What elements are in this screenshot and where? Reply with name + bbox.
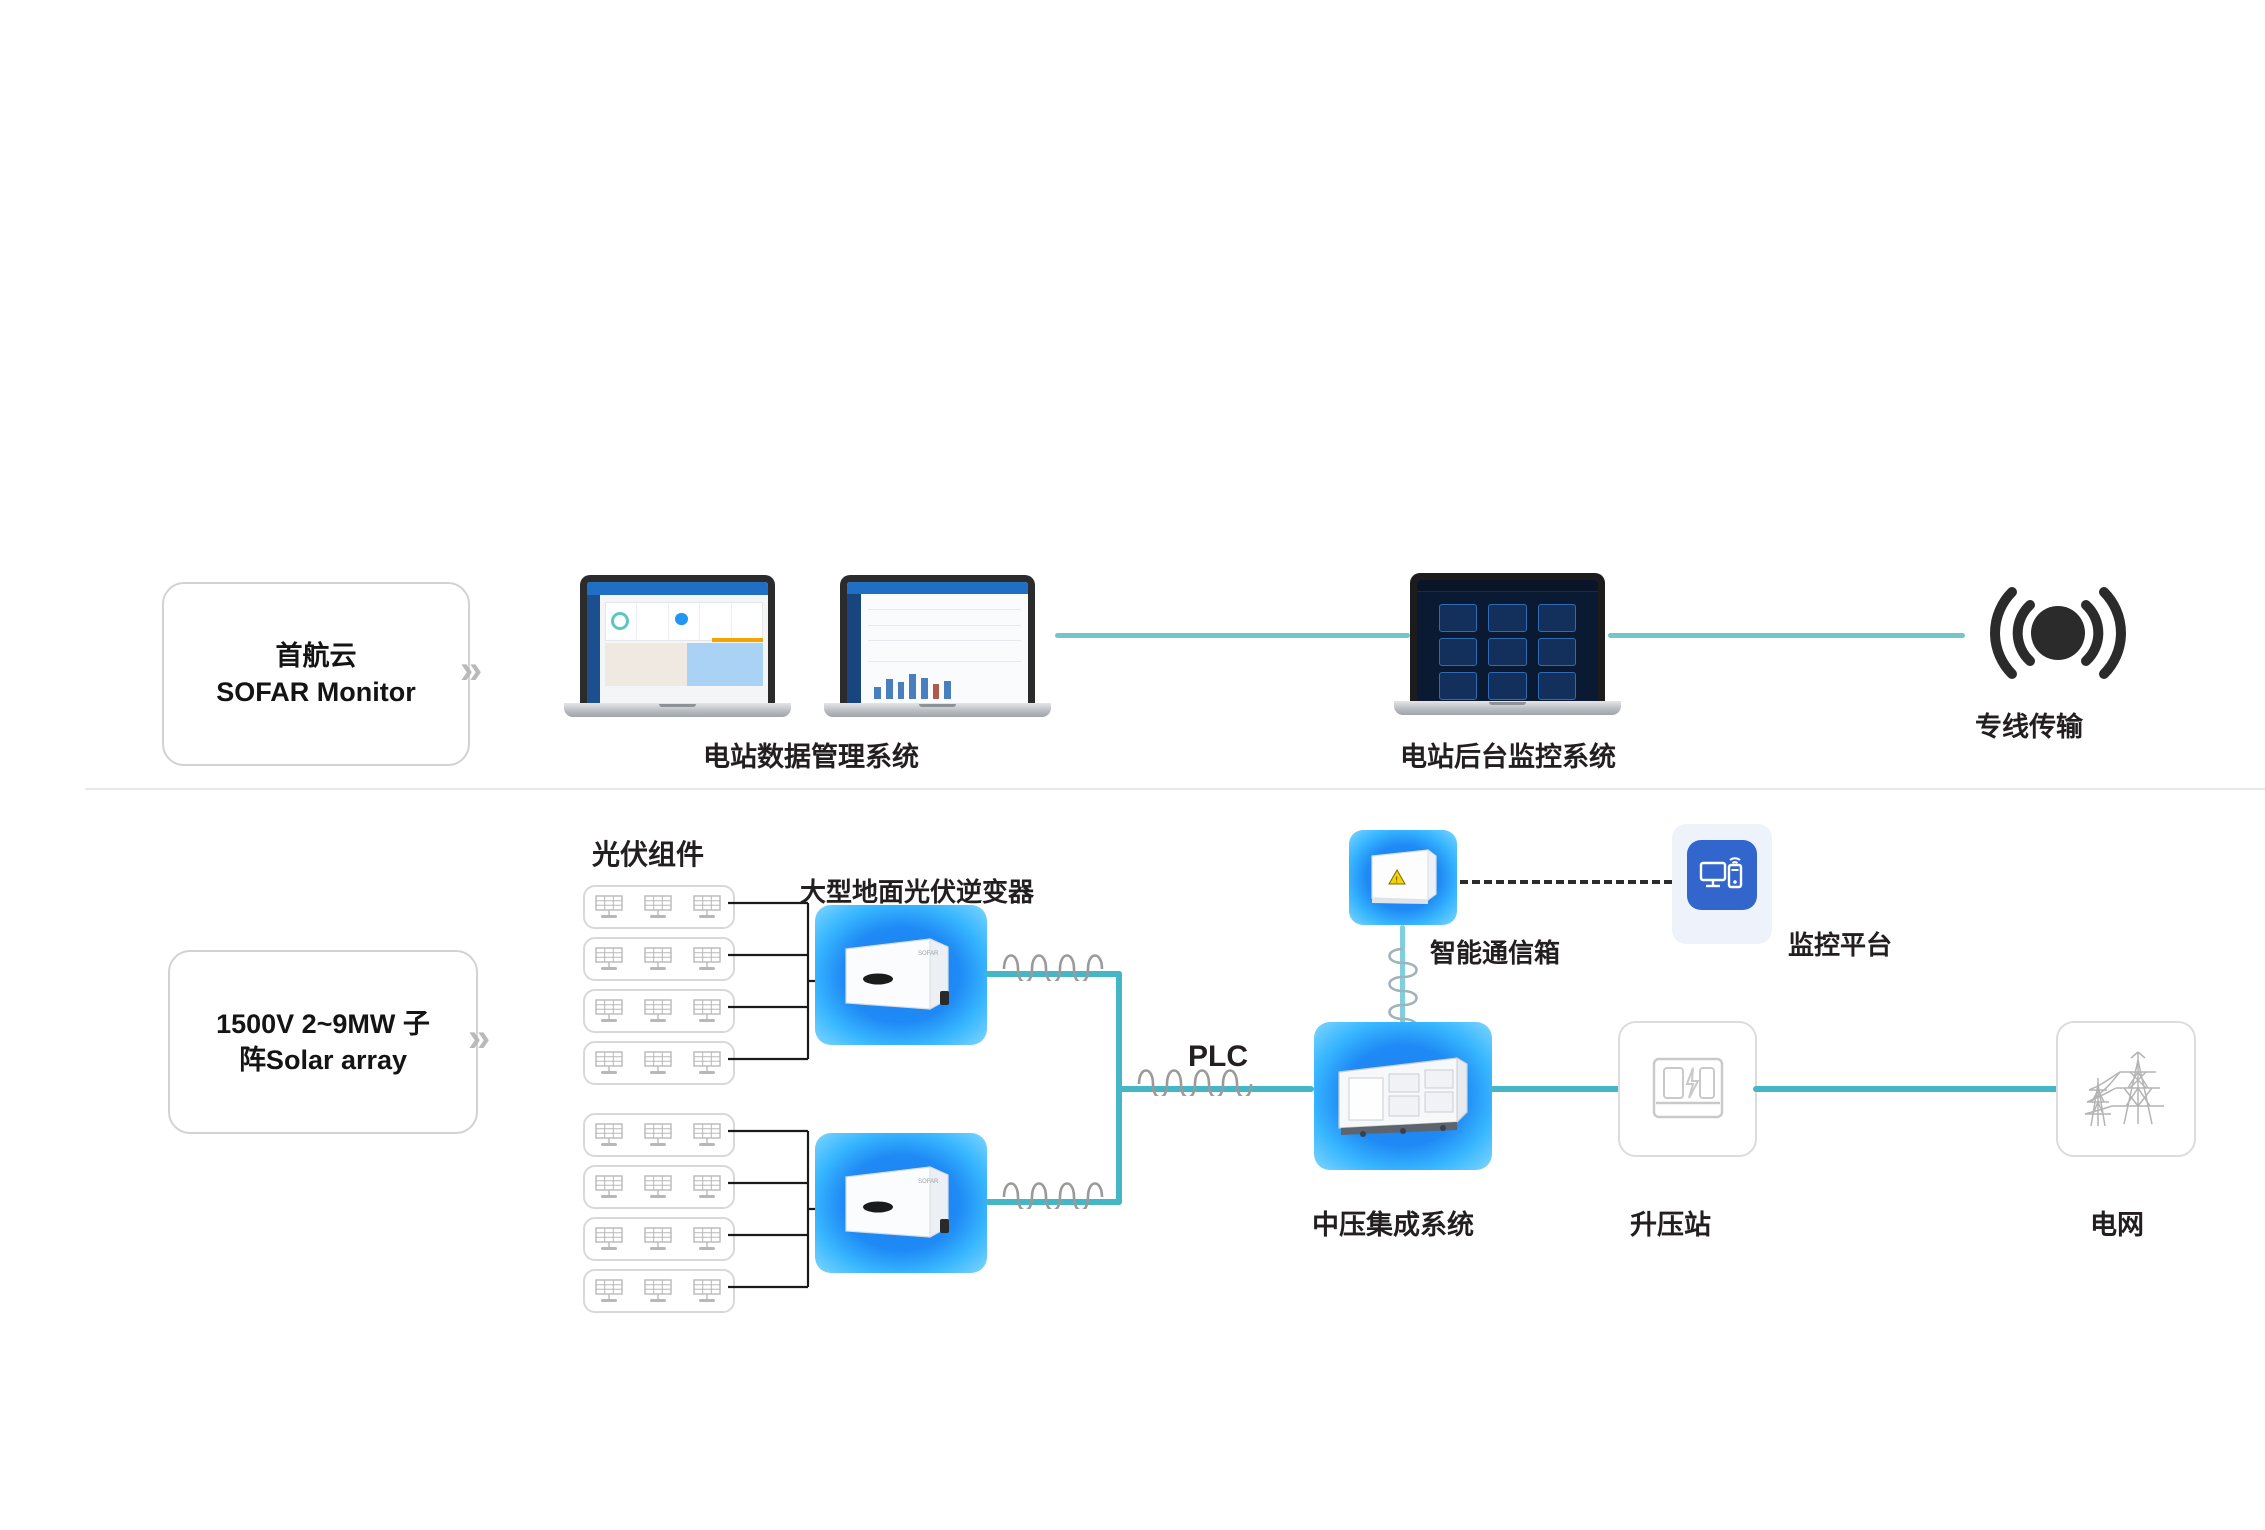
menu-tile[interactable] [1538,604,1577,632]
solar-panel-icon [692,894,724,920]
kpi-card [669,603,700,640]
plant-backend-monitoring-system-label: 电站后台监控系统 [1400,735,1616,774]
kpi-card [606,603,637,640]
solar-panel-icon [643,946,675,972]
monitoring-platform-icon-tile [1687,840,1757,910]
coil-inverter-b-icon [1000,1175,1110,1209]
solar-panel-icon [643,1050,675,1076]
laptop2-screen [840,575,1035,703]
substation-cabinet-icon [1646,1053,1730,1125]
laptop2-base [824,703,1051,717]
dashboard2-body [861,594,1028,703]
monitor-pc-wifi-icon [1699,855,1745,895]
power-grid-tile [2056,1021,2196,1157]
solar-panel-icon [692,998,724,1024]
power-grid-label: 电网 [2090,1203,2144,1242]
solar-panel-icon [594,1226,626,1252]
wire-booster-to-grid [1753,1086,2066,1092]
sofar-monitor-chevron-icon: » [460,650,482,690]
solar-array-line1: 1500V 2~9MW 子 [216,1006,430,1042]
pv-string-row [583,937,735,981]
sofar-monitor-line2: SOFAR Monitor [216,674,415,710]
menu-tile[interactable] [1439,638,1478,666]
wire-backend-to-transmission [1608,633,1965,638]
dedicated-line-transmission-icon-wrap [1988,578,2128,688]
sofar-monitor-group-box: 首航云 SOFAR Monitor [162,582,470,766]
dedicated-line-transmission-label: 专线传输 [1975,705,2083,744]
pv-string-row [583,885,735,929]
kpi-card [637,603,668,640]
wire-datamgmt-to-backend [1055,633,1410,638]
plant-backend-monitoring-laptop [1410,573,1621,715]
wire-mv-to-booster [1490,1086,1620,1092]
menu-tile[interactable] [1488,604,1527,632]
booster-station-label: 升压站 [1630,1203,1711,1242]
sofar-monitor-line1: 首航云 [216,638,415,674]
monitoring-platform-backdrop [1672,824,1772,944]
kpi-card [700,603,731,640]
solar-panel-icon [594,998,626,1024]
dashboard2-titlebar [847,582,1028,594]
gauge-dot-icon [675,613,688,626]
solar-array-chevron-icon: » [468,1018,490,1058]
solar-panel-icon [594,1278,626,1304]
solar-panel-icon [692,1174,724,1200]
pv-string-row [583,1041,735,1085]
wire-commbox-to-platform-dashed [1460,880,1672,884]
solar-panel-icon [643,1278,675,1304]
pv-modules-label: 光伏组件 [592,833,704,873]
pv-string-row [583,989,735,1033]
plant-data-management-system-label: 电站数据管理系统 [703,735,919,774]
svg-text:SOFAR: SOFAR [918,1179,939,1185]
solar-panel-icon [643,1174,675,1200]
booster-station-tile [1618,1021,1757,1157]
sofar-monitor-label: 首航云 SOFAR Monitor [216,638,415,711]
solar-panel-icon [594,1174,626,1200]
solar-panel-icon [594,894,626,920]
solar-panel-icon [692,1050,724,1076]
mv-container-icon [1333,1050,1473,1142]
inverter-device-a: SOFAR [815,905,987,1045]
dashboard1-map [605,643,763,686]
chart-bars [874,669,951,699]
dashboard1-sidebar [587,595,600,703]
large-ground-pv-inverter-label: 大型地面光伏逆变器 [800,872,1034,909]
solar-panel-icon [594,946,626,972]
dashboard2-filter-row [868,631,1021,642]
dashboard1-titlebar [587,582,768,595]
kpi-card [732,603,762,640]
plant-data-management-laptop-2 [840,575,1051,717]
svg-text:SOFAR: SOFAR [918,951,939,957]
dashboard2-bar-chart [868,661,1021,699]
smart-communication-box-label: 智能通信箱 [1430,933,1560,970]
section-divider [85,788,2265,790]
solar-panel-icon [643,998,675,1024]
inverter-device-b: SOFAR [815,1133,987,1273]
dashboard2-filter-row [868,615,1021,626]
menu-tile[interactable] [1488,638,1527,666]
dark-dashboard-titlebar [1417,580,1598,592]
smart-communication-box-device: ! [1349,830,1457,925]
communication-box-icon: ! [1364,846,1442,910]
solar-panel-icon [594,1122,626,1148]
plant-data-management-laptop-1 [580,575,791,717]
solar-panel-icon [692,1122,724,1148]
dark-laptop-screen [1410,573,1605,701]
solar-panel-icon [643,1122,675,1148]
dashboard1-body [600,595,768,703]
gauge-ring-icon [611,612,629,630]
menu-tile[interactable] [1488,672,1527,700]
dark-laptop-base [1394,701,1621,715]
pv-string-row [583,1269,735,1313]
dark-dashboard [1417,580,1598,701]
inverter-icon: SOFAR [840,1161,962,1245]
pv-string-row [583,1113,735,1157]
signal-broadcast-icon [1988,578,2128,688]
solar-panel-icon [594,1050,626,1076]
menu-tile[interactable] [1439,672,1478,700]
solar-panel-icon [692,1278,724,1304]
pv-string-row [583,1165,735,1209]
dark-dashboard-menu-grid [1439,604,1577,688]
medium-voltage-integrated-system-label: 中压集成系统 [1312,1203,1474,1242]
dashboard2-filter-row [868,599,1021,610]
solar-array-line2: 阵Solar array [216,1042,430,1078]
monitoring-platform-label: 监控平台 [1788,925,1892,962]
pv-string-row [583,1217,735,1261]
transmission-tower-icon [2080,1046,2172,1132]
inverter-icon: SOFAR [840,933,962,1017]
solar-panel-icon [692,1226,724,1252]
coil-plc-icon [1135,1062,1255,1096]
coil-inverter-a-icon [1000,947,1110,981]
dashboard2-sidebar [847,594,861,703]
dashboard1-kpi-cards [605,602,763,641]
menu-tile[interactable] [1538,672,1577,700]
solar-array-group-box: 1500V 2~9MW 子 阵Solar array [168,950,478,1134]
menu-tile[interactable] [1538,638,1577,666]
laptop1-base [564,703,791,717]
solar-panel-icon [643,1226,675,1252]
laptop1-screen [580,575,775,703]
medium-voltage-integrated-system-device [1314,1022,1492,1170]
map-water-area [687,643,763,686]
solar-panel-icon [692,946,724,972]
svg-text:!: ! [1396,875,1398,884]
solar-array-label: 1500V 2~9MW 子 阵Solar array [216,1006,430,1079]
solar-panel-icon [643,894,675,920]
menu-tile[interactable] [1439,604,1478,632]
dashboard1-highlight-bar [712,638,763,641]
